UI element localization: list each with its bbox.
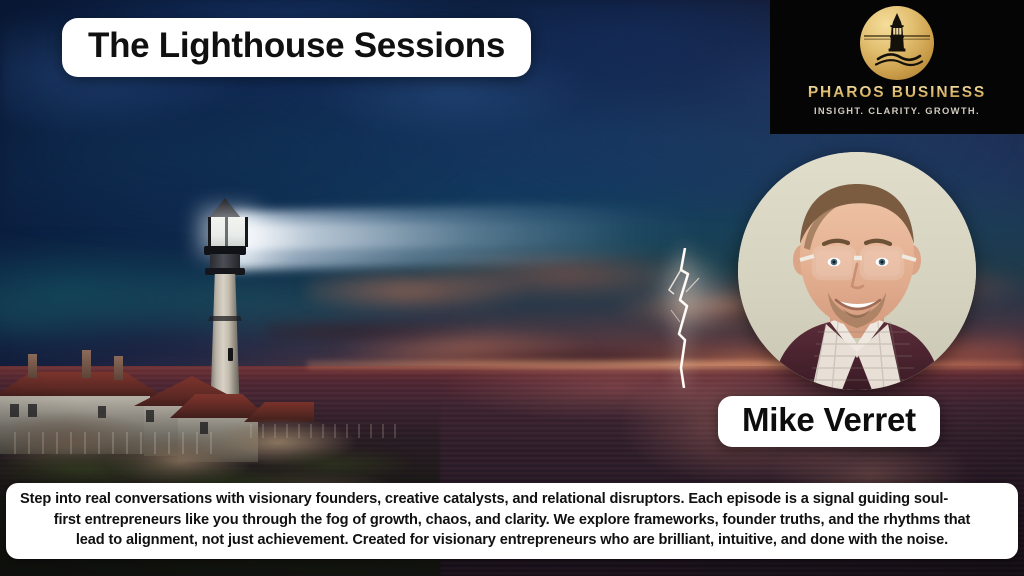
lighthouse-light-beam-core xyxy=(236,220,636,250)
lighthouse-band xyxy=(205,316,245,321)
description-line-2: first entrepreneurs like you through the… xyxy=(16,510,1008,531)
house-roof-left xyxy=(0,372,162,396)
description-line-3: lead to alignment, not just achievement.… xyxy=(16,530,1008,551)
podcast-cover-artwork: The Lighthouse Sessions xyxy=(0,0,1024,576)
brand-name: PHAROS BUSINESS xyxy=(808,84,986,102)
brand-tagline: INSIGHT. CLARITY. GROWTH. xyxy=(814,105,980,116)
brand-logo-block[interactable]: PHAROS BUSINESS INSIGHT. CLARITY. GROWTH… xyxy=(770,0,1024,134)
lighthouse-lamp xyxy=(208,217,248,247)
show-title-badge: The Lighthouse Sessions xyxy=(62,18,531,77)
lighthouse-roof xyxy=(209,198,241,218)
description-line-1: Step into real conversations with vision… xyxy=(16,489,1008,510)
description-badge: Step into real conversations with vision… xyxy=(6,483,1018,559)
avatar xyxy=(738,152,976,390)
host-name-badge: Mike Verret xyxy=(718,396,940,447)
lighthouse-in-circle-icon xyxy=(860,6,934,80)
chimney-1 xyxy=(28,354,37,378)
chimney-2 xyxy=(82,350,91,378)
lighthouse-base-ring xyxy=(205,268,245,275)
page-title: The Lighthouse Sessions xyxy=(88,27,505,65)
fence-right xyxy=(250,424,400,438)
fence-left xyxy=(14,432,214,454)
chimney-3 xyxy=(114,356,123,380)
host-name: Mike Verret xyxy=(742,402,916,438)
lightning-glow xyxy=(630,238,750,378)
